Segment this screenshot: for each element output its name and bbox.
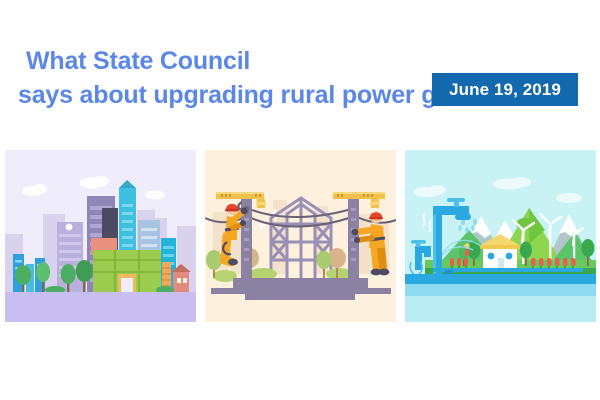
insulator (256, 199, 266, 208)
glove (352, 229, 359, 236)
page-title-line2: says about upgrading rural power grid (18, 78, 426, 112)
gallery-panel-city-skyline[interactable] (5, 150, 196, 322)
insulator (370, 199, 380, 208)
page-title: What State Council says about upgrading … (26, 44, 426, 112)
river (405, 274, 596, 284)
banner-header: What State Council says about upgrading … (0, 30, 600, 130)
house-window (488, 253, 495, 260)
ground (5, 292, 196, 322)
banner: What State Council says about upgrading … (0, 0, 600, 400)
page-title-line1: What State Council (26, 44, 426, 78)
house-window (506, 253, 513, 260)
city-skyline-illustration (5, 150, 196, 322)
gallery-panel-rural-green-energy[interactable] (405, 150, 596, 322)
image-gallery (5, 150, 596, 322)
glove (240, 220, 246, 226)
glove (354, 237, 360, 243)
glove (241, 208, 247, 214)
house-door (498, 258, 504, 268)
power-line-workers-illustration (205, 150, 396, 322)
date-badge: June 19, 2019 (432, 73, 578, 106)
gallery-panel-power-line-workers[interactable] (205, 150, 396, 322)
rural-green-energy-illustration (405, 150, 596, 322)
